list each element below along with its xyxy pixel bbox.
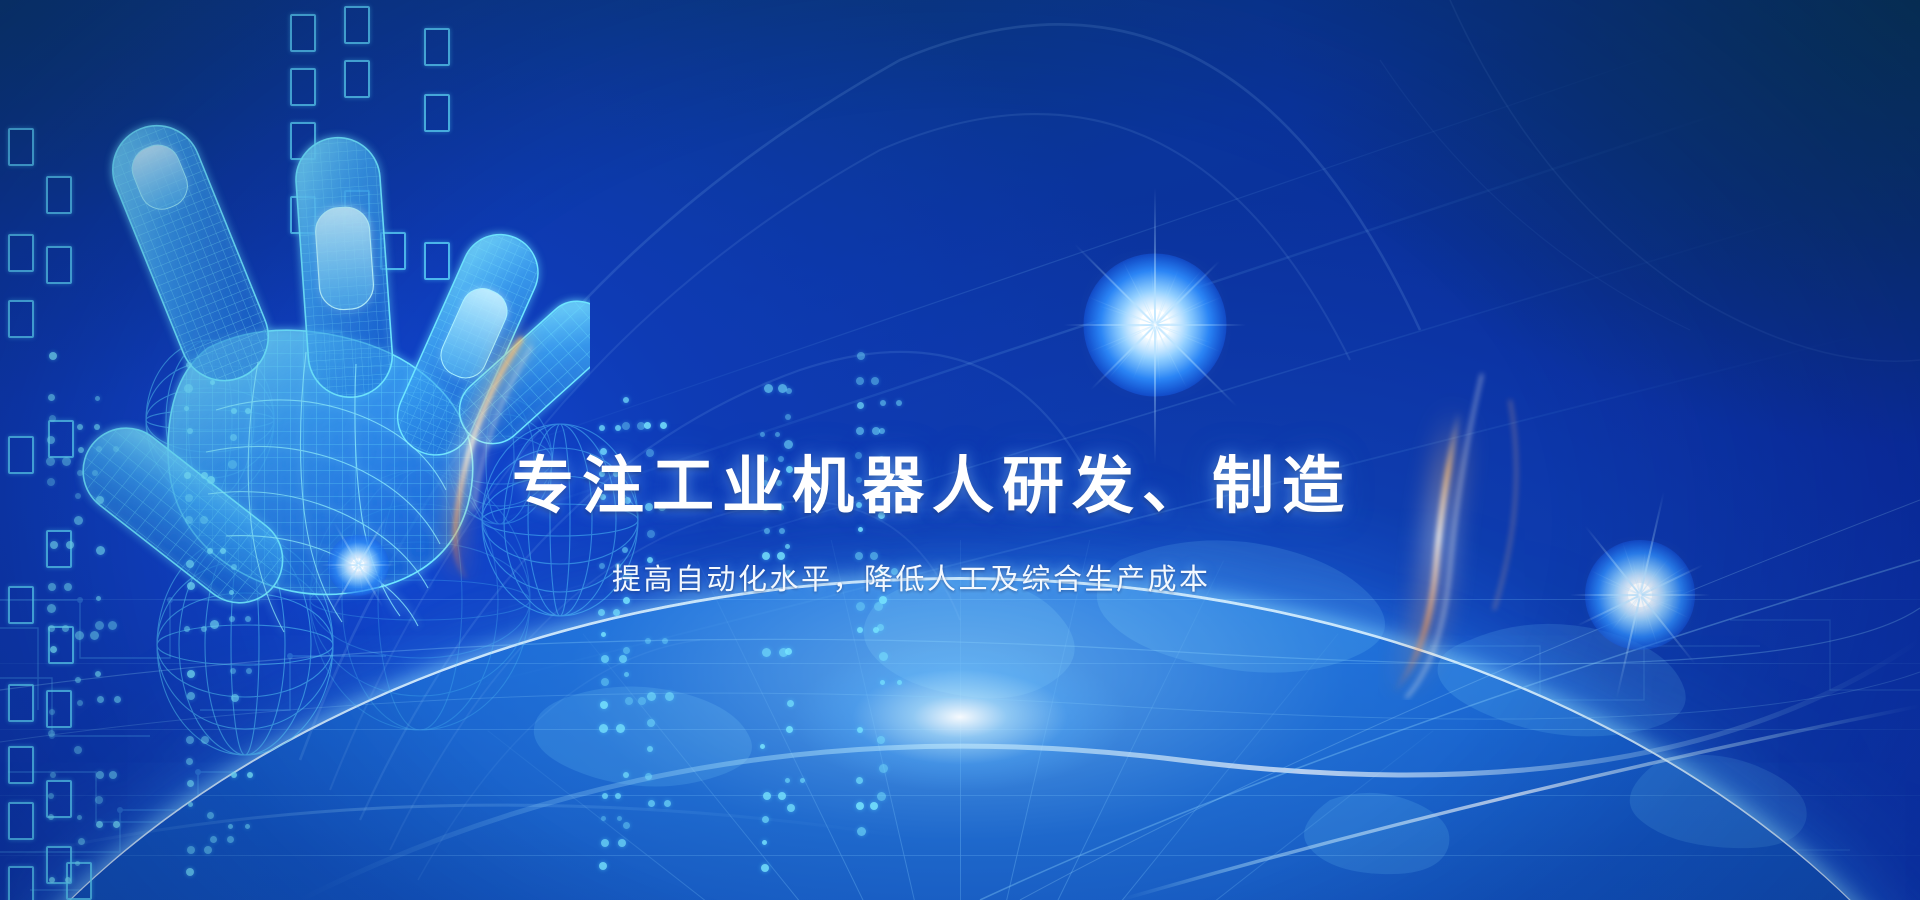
hero-banner: 专注工业机器人研发、制造 提高自动化水平，降低人工及综合生产成本 bbox=[0, 0, 1920, 900]
background-vignette bbox=[0, 0, 1920, 900]
page-title: 专注工业机器人研发、制造 bbox=[512, 456, 1352, 518]
page-subtitle: 提高自动化水平，降低人工及综合生产成本 bbox=[612, 566, 1211, 595]
